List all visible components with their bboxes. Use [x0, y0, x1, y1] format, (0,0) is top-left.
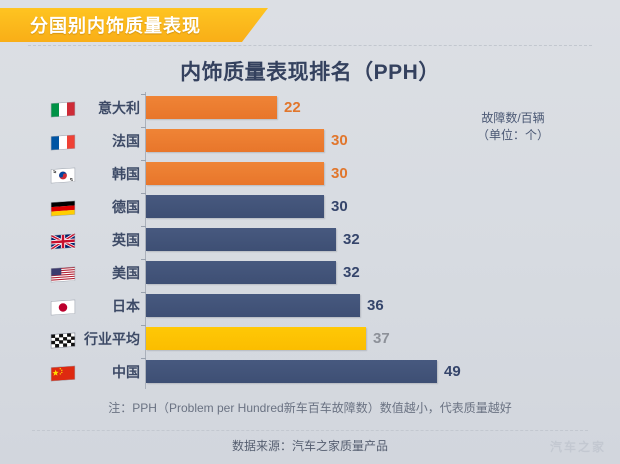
bar-value-label: 36	[367, 295, 384, 316]
bar	[146, 294, 360, 317]
china-flag	[50, 365, 76, 382]
chart-bar-row: 韩国30	[0, 158, 620, 191]
axis-tick	[141, 259, 146, 260]
axis-tick	[141, 226, 146, 227]
unit-annotation-line1: 故障数/百辆	[438, 110, 588, 127]
bar	[146, 360, 437, 383]
bar	[146, 228, 336, 251]
bar	[146, 162, 324, 185]
axis-tick	[141, 292, 146, 293]
bar-value-label: 37	[373, 328, 390, 349]
bar	[146, 96, 277, 119]
chart-bar-row: 英国32	[0, 224, 620, 257]
bar-value-label: 30	[331, 196, 348, 217]
watermark-label: 汽车之家	[550, 438, 606, 455]
category-label: 英国	[82, 229, 140, 251]
bar-value-label: 22	[284, 97, 301, 118]
category-label: 日本	[82, 295, 140, 317]
category-label: 德国	[82, 196, 140, 218]
france-flag	[50, 134, 76, 151]
header-divider	[28, 45, 592, 46]
axis-tick	[141, 358, 146, 359]
italy-flag	[50, 101, 76, 118]
chart-bar-row: 美国32	[0, 257, 620, 290]
header-banner-label: 分国别内饰质量表现	[30, 12, 201, 38]
unit-annotation: 故障数/百辆 （单位：个）	[438, 110, 588, 144]
bar-value-label: 30	[331, 130, 348, 151]
category-label: 韩国	[82, 163, 140, 185]
axis-tick	[141, 127, 146, 128]
chart-page: 分国别内饰质量表现 内饰质量表现排名（PPH） 意大利22法国30韩国30德国3…	[0, 0, 620, 464]
bar-value-label: 49	[444, 361, 461, 382]
axis-tick	[141, 193, 146, 194]
korea-flag	[50, 167, 76, 184]
chart-footnote: 注：PPH（Problem per Hundred新车百车故障数）数值越小，代表…	[0, 399, 620, 416]
germany-flag	[50, 200, 76, 217]
axis-tick	[141, 94, 146, 95]
axis-tick	[141, 160, 146, 161]
unit-annotation-line2: （单位：个）	[438, 127, 588, 144]
category-label: 中国	[82, 361, 140, 383]
category-label: 行业平均	[70, 328, 140, 350]
uk-flag	[50, 233, 76, 250]
bar-value-label: 32	[343, 229, 360, 250]
category-label: 美国	[82, 262, 140, 284]
chart-bar-row: 日本36	[0, 290, 620, 323]
data-source-label: 数据来源：汽车之家质量产品	[0, 437, 620, 454]
footer-divider	[32, 430, 588, 431]
usa-flag	[50, 266, 76, 283]
bar	[146, 195, 324, 218]
chart-bar-row: 德国30	[0, 191, 620, 224]
chart-bar-row: 中国49	[0, 356, 620, 389]
chart-bar-row: 行业平均37	[0, 323, 620, 356]
bar	[146, 261, 336, 284]
axis-tick	[141, 325, 146, 326]
bar-value-label: 32	[343, 262, 360, 283]
bar	[146, 327, 366, 350]
bar-value-label: 30	[331, 163, 348, 184]
chart-title: 内饰质量表现排名（PPH）	[0, 56, 620, 86]
bar	[146, 129, 324, 152]
japan-flag	[50, 299, 76, 316]
category-label: 法国	[82, 130, 140, 152]
category-label: 意大利	[82, 97, 140, 119]
header-banner: 分国别内饰质量表现	[0, 8, 268, 42]
